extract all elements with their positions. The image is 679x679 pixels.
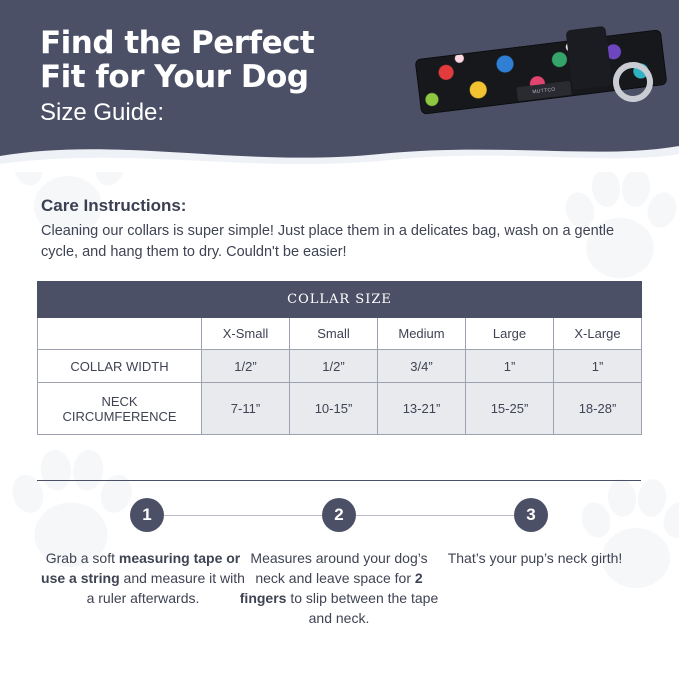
- care-instructions-body: Cleaning our collars is super simple! Ju…: [41, 221, 621, 263]
- size-guide-page: MUTTCO Find the Perfect Fit for Your Dog…: [0, 0, 679, 679]
- step-badge-3: 3: [514, 498, 548, 532]
- cell-collar-width-medium: 3/4”: [378, 350, 466, 383]
- cell-neck-small: 10-15”: [290, 383, 378, 435]
- step-connector-line: [356, 515, 514, 516]
- column-header-large: Large: [466, 318, 554, 350]
- section-divider: [37, 480, 641, 481]
- measuring-steps-section: 1 2 3 Grab a soft measuring tape or use …: [37, 498, 641, 648]
- table-corner-cell: [38, 318, 202, 350]
- column-header-medium: Medium: [378, 318, 466, 350]
- table-title-row: COLLAR SIZE: [38, 282, 642, 318]
- column-header-x-small: X-Small: [202, 318, 290, 350]
- cell-neck-medium: 13-21”: [378, 383, 466, 435]
- cell-collar-width-large: 1”: [466, 350, 554, 383]
- row-label-line-2: CIRCUMFERENCE: [38, 409, 201, 424]
- row-label-neck-circumference: NECK CIRCUMFERENCE: [38, 383, 202, 435]
- step-text-3: That’s your pup’s neck girth!: [431, 548, 639, 568]
- table-row: COLLAR WIDTH 1/2” 1/2” 3/4” 1” 1”: [38, 350, 642, 383]
- cell-collar-width-x-small: 1/2”: [202, 350, 290, 383]
- row-label-line-1: NECK: [38, 394, 201, 409]
- header-text-block: Find the Perfect Fit for Your Dog Size G…: [40, 26, 430, 130]
- care-instructions-title: Care Instructions:: [41, 196, 621, 216]
- row-label-collar-width: COLLAR WIDTH: [38, 350, 202, 383]
- cell-collar-width-x-large: 1”: [554, 350, 642, 383]
- step-badge-1: 1: [130, 498, 164, 532]
- collar-buckle: [565, 26, 612, 90]
- dog-collar-product-image: MUTTCO: [417, 18, 665, 136]
- header-banner: MUTTCO Find the Perfect Fit for Your Dog…: [0, 0, 679, 172]
- cell-neck-x-large: 18-28”: [554, 383, 642, 435]
- step-badge-2: 2: [322, 498, 356, 532]
- table-row: NECK CIRCUMFERENCE 7-11” 10-15” 13-21” 1…: [38, 383, 642, 435]
- step-text-1: Grab a soft measuring tape or use a stri…: [39, 548, 247, 608]
- step-connector-line: [164, 515, 322, 516]
- column-header-x-large: X-Large: [554, 318, 642, 350]
- page-title-line-1: Find the Perfect: [40, 26, 430, 60]
- cell-neck-large: 15-25”: [466, 383, 554, 435]
- cell-collar-width-small: 1/2”: [290, 350, 378, 383]
- column-header-small: Small: [290, 318, 378, 350]
- table-title: COLLAR SIZE: [38, 282, 642, 318]
- step-text-2: Measures around your dog’s neck and leav…: [235, 548, 443, 628]
- header-bottom-curve: [0, 134, 679, 172]
- collar-size-table: COLLAR SIZE X-Small Small Medium Large X…: [37, 281, 642, 435]
- table-column-header-row: X-Small Small Medium Large X-Large: [38, 318, 642, 350]
- care-instructions-section: Care Instructions: Cleaning our collars …: [41, 196, 621, 263]
- page-title-line-2: Fit for Your Dog: [40, 60, 430, 94]
- cell-neck-x-small: 7-11”: [202, 383, 290, 435]
- page-subtitle: Size Guide:: [40, 96, 430, 130]
